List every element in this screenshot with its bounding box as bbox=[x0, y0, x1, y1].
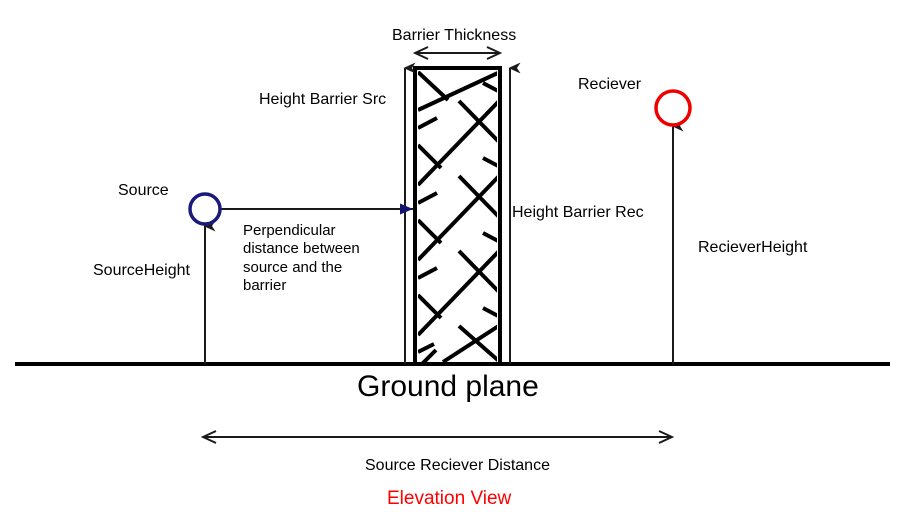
barrier-thickness-label: Barrier Thickness bbox=[392, 26, 516, 46]
source-circle bbox=[190, 194, 220, 224]
perpendicular-distance-label: Perpendicular distance between source an… bbox=[243, 222, 393, 295]
ground-plane-label: Ground plane bbox=[357, 369, 539, 406]
receiver-circle bbox=[656, 91, 690, 125]
height-barrier-rec-label: Height Barrier Rec bbox=[512, 203, 644, 223]
barrier-wall bbox=[415, 68, 500, 368]
receiver-height-label: RecieverHeight bbox=[698, 238, 807, 258]
source-receiver-distance-label: Source Reciever Distance bbox=[365, 456, 550, 476]
height-barrier-src-label: Height Barrier Src bbox=[259, 90, 386, 110]
source-height-label: SourceHeight bbox=[93, 261, 190, 281]
elevation-view-diagram: Barrier Thickness Height Barrier Src Rec… bbox=[0, 0, 906, 529]
receiver-label: Reciever bbox=[578, 75, 641, 95]
elevation-view-label: Elevation View bbox=[387, 487, 511, 510]
source-label: Source bbox=[118, 181, 169, 201]
